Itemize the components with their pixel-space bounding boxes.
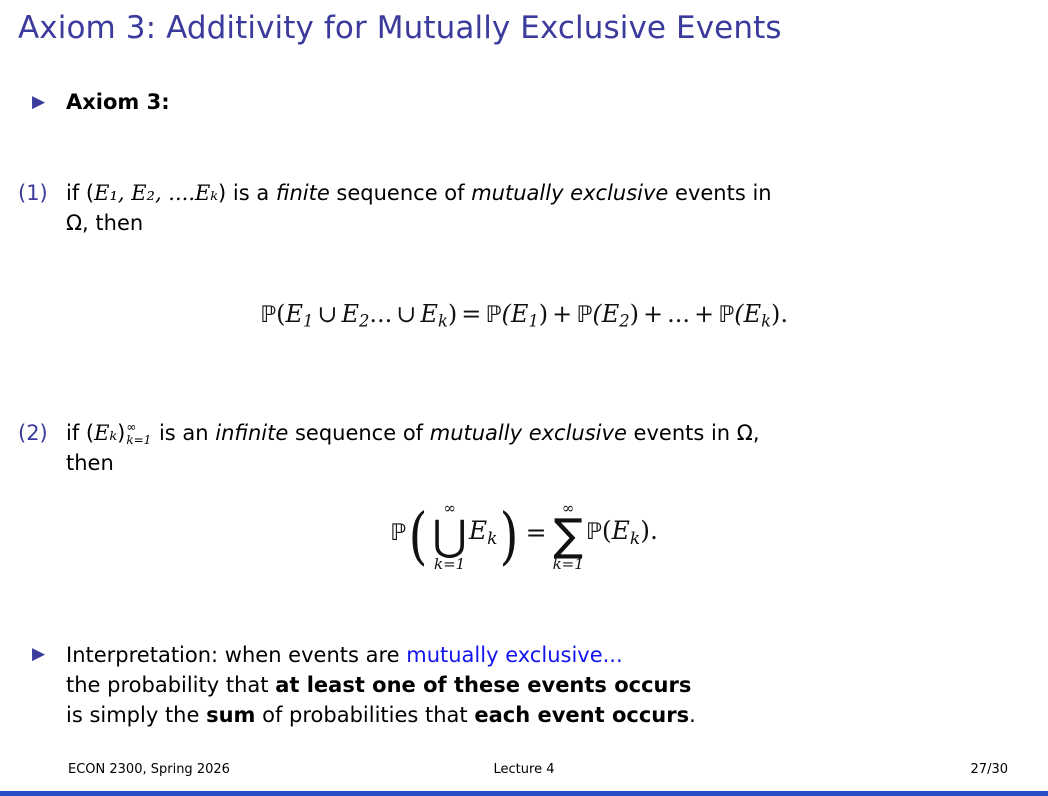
item2-text-a: if (: [66, 421, 94, 445]
axiom-heading-label: Axiom 3:: [66, 88, 170, 116]
item-body-1: if (E₁, E₂, ....Eₖ) is a finite sequence…: [66, 178, 772, 238]
eq1-term1-close: ): [539, 300, 548, 328]
item-body-2: if (Eₖ)∞k=1 is an infinite sequence of m…: [66, 418, 760, 478]
eq1-prob-symbol-3: ℙ: [576, 302, 592, 328]
item2-close-paren: ): [117, 421, 125, 445]
footer-lecture: Lecture 4: [0, 762, 1048, 777]
eq1-period: .: [780, 300, 788, 328]
item1-sequence-math: E₁, E₂, ....Eₖ: [94, 181, 218, 205]
eq1-plus-2: +: [639, 300, 667, 328]
item1-text-line2: Ω, then: [66, 211, 143, 235]
interp-line1-a: Interpretation: when events are: [66, 643, 406, 667]
numbered-item-1: (1) if (E₁, E₂, ....Eₖ) is a finite sequ…: [18, 178, 1018, 238]
eq2-E-sub: k: [487, 529, 497, 549]
eq1-E1-sub: 1: [303, 312, 313, 331]
eq1-term2-sub: 2: [619, 312, 629, 331]
bullet-triangle-icon-2: ▶: [32, 640, 50, 668]
eq1-dots-2: ...: [667, 300, 690, 328]
eq1-union-1: ∪: [313, 300, 341, 328]
eq1-plus-1: +: [548, 300, 576, 328]
eq2-right-open-paren: (: [602, 516, 612, 545]
eq1-prob-symbol: ℙ: [260, 302, 276, 328]
interp-line3-a: is simply the: [66, 703, 206, 727]
interp-line3-b: of probabilities that: [255, 703, 474, 727]
eq1-term2-close: ): [630, 300, 639, 328]
eq2-E: E: [469, 516, 487, 545]
interp-line3-bold-each-event: each event occurs: [474, 703, 689, 727]
item2-sub: k=1: [126, 434, 151, 447]
eq2-period: .: [650, 516, 658, 545]
eq1-E2: E: [341, 300, 359, 328]
eq1-equals: =: [457, 300, 485, 328]
numbered-item-2: (2) if (Eₖ)∞k=1 is an infinite sequence …: [18, 418, 1028, 478]
bullet-interpretation: ▶ Interpretation: when events are mutual…: [32, 640, 696, 730]
item1-text-d: events in: [668, 181, 771, 205]
eq1-E1: E: [285, 300, 303, 328]
item2-emph-mutually-exclusive: mutually exclusive: [430, 421, 627, 445]
eq1-Ek: E: [420, 300, 438, 328]
item2-text-b: is an: [152, 421, 215, 445]
eq1-Ek-sub: k: [438, 312, 448, 331]
eq2-sum-glyph: ∑: [553, 516, 584, 556]
eq2-prob-symbol-right: ℙ: [586, 519, 602, 545]
bullet-triangle-icon: ▶: [32, 88, 50, 116]
interp-line2-a: the probability that: [66, 673, 275, 697]
item-number-2: (2): [18, 418, 66, 448]
eq1-term1-sub: 1: [528, 312, 538, 331]
eq2-union-glyph: ⋃: [432, 516, 466, 556]
page-title: Axiom 3: Additivity for Mutually Exclusi…: [18, 8, 782, 48]
eq2-right-close-paren: ): [640, 516, 650, 545]
eq1-E2-sub: 2: [359, 312, 369, 331]
item1-emph-finite: finite: [276, 181, 330, 205]
eq2-sum-lower-limit: k=1: [553, 556, 584, 573]
interp-line1-highlight: mutually exclusive...: [406, 643, 622, 667]
item1-text-b: ) is a: [218, 181, 276, 205]
interp-line2-bold: at least one of these events occurs: [275, 673, 691, 697]
eq1-plus-3: +: [690, 300, 718, 328]
eq2-equals: =: [522, 518, 551, 547]
eq1-union-2: ∪: [392, 300, 420, 328]
item2-text-line2: then: [66, 451, 114, 475]
footer-page-number: 27/30: [971, 762, 1008, 777]
eq1-term1: (E: [501, 300, 528, 328]
bottom-accent-bar: [0, 791, 1048, 796]
bullet-axiom-heading: ▶ Axiom 3:: [32, 88, 170, 116]
eq2-union-lower-limit: k=1: [432, 556, 466, 573]
interpretation-text: Interpretation: when events are mutually…: [66, 640, 696, 730]
slide-footer: ECON 2300, Spring 2026 Lecture 4 27/30: [0, 762, 1048, 778]
item2-sequence-math: Eₖ: [94, 421, 117, 445]
item2-text-d: events in Ω,: [627, 421, 760, 445]
slide: Axiom 3: Additivity for Mutually Exclusi…: [0, 0, 1048, 796]
item-number-1: (1): [18, 178, 66, 208]
eq1-prob-symbol-4: ℙ: [718, 302, 734, 328]
eq1-dots-1: ...: [369, 300, 392, 328]
equation-countable-additivity: ℙ(∞⋃k=1Ek)=∞∑k=1ℙ(Ek).: [0, 498, 1048, 571]
eq2-right-E: E: [612, 516, 630, 545]
eq2-sum-operator: ∞∑k=1: [553, 500, 584, 573]
eq1-term2: (E: [592, 300, 619, 328]
item2-emph-infinite: infinite: [215, 421, 288, 445]
eq1-term3: (E: [734, 300, 761, 328]
item2-limits: ∞k=1: [126, 421, 151, 446]
interp-line3-bold-sum: sum: [206, 703, 255, 727]
eq2-right-E-sub: k: [630, 529, 640, 549]
eq2-prob-symbol-left: ℙ: [390, 520, 406, 546]
item1-text-a: if (: [66, 181, 94, 205]
eq1-prob-symbol-2: ℙ: [485, 302, 501, 328]
eq2-union-operator: ∞⋃k=1: [432, 500, 466, 573]
eq1-term3-sub: k: [761, 312, 771, 331]
interp-line3-c: .: [689, 703, 696, 727]
eq1-close-paren: ): [448, 300, 457, 328]
equation-finite-additivity: ℙ(E1∪E2...∪Ek)=ℙ(E1)+ℙ(E2)+...+ℙ(Ek).: [0, 300, 1048, 331]
item1-emph-mutually-exclusive: mutually exclusive: [471, 181, 668, 205]
item1-text-c: sequence of: [330, 181, 471, 205]
item2-text-c: sequence of: [288, 421, 429, 445]
